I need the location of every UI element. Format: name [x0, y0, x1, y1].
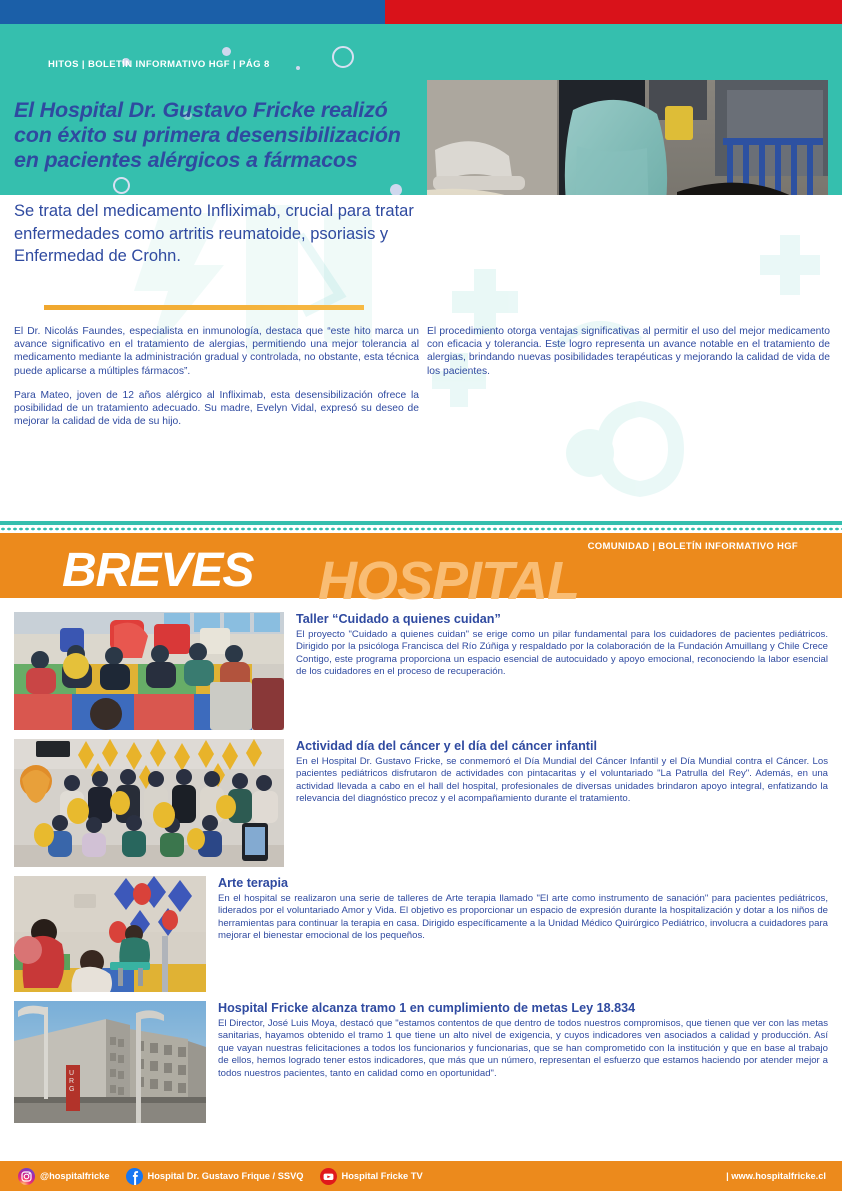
newsletter-page: HITOS | BOLETÍN INFORMATIVO HGF | PÁG 8 … — [0, 0, 842, 1191]
footer-social-instagram[interactable]: @hospitalfricke — [18, 1168, 110, 1185]
list-item: Actividad día del cáncer y el día del cá… — [0, 739, 842, 867]
news-body: El proyecto "Cuidado a quienes cuidan" s… — [296, 629, 828, 679]
instagram-handle: @hospitalfricke — [40, 1171, 110, 1181]
facebook-page-name: Hospital Dr. Gustavo Frique / SSVQ — [148, 1171, 304, 1181]
news-title: Hospital Fricke alcanza tramo 1 en cumpl… — [218, 1001, 828, 1016]
instagram-icon[interactable] — [18, 1168, 35, 1185]
news-title: Actividad día del cáncer y el día del cá… — [296, 739, 828, 754]
dot-ring — [113, 177, 130, 194]
breves-kicker: COMUNIDAD | BOLETÍN INFORMATIVO HGF — [588, 541, 798, 552]
top-color-bar — [0, 0, 842, 24]
article-paragraph: Para Mateo, joven de 12 años alérgico al… — [14, 389, 419, 429]
footer-social-youtube[interactable]: Hospital Fricke TV — [320, 1168, 423, 1185]
news-body: En el hospital se realizaron una serie d… — [218, 893, 828, 943]
article-paragraph: El Dr. Nicolás Faundes, especialista en … — [14, 325, 419, 378]
section-divider-dotted — [0, 527, 842, 531]
page-title: El Hospital Dr. Gustavo Fricke realizó c… — [14, 98, 424, 173]
news-text: Arte terapia En el hospital se realizaro… — [206, 876, 842, 943]
section-divider-solid — [0, 521, 842, 525]
footer-social-facebook[interactable]: Hospital Dr. Gustavo Frique / SSVQ — [126, 1168, 304, 1185]
article-paragraph: El procedimiento otorga ventajas signifi… — [427, 325, 830, 378]
news-title: Taller “Cuidado a quienes cuidan” — [296, 612, 828, 627]
article-lede: Se trata del medicamento Infliximab, cru… — [14, 200, 419, 268]
article-column-left: El Dr. Nicolás Faundes, especialista en … — [14, 325, 419, 439]
dot-ring — [332, 46, 354, 68]
list-item: Taller “Cuidado a quienes cuidan” El pro… — [0, 612, 842, 730]
breves-banner: COMUNIDAD | BOLETÍN INFORMATIVO HGF HOSP… — [0, 533, 842, 598]
list-item: URG Hospital Fricke alcanza tramo 1 en c… — [0, 1001, 842, 1123]
dot — [390, 184, 402, 195]
article-column-right: El procedimiento otorga ventajas signifi… — [427, 325, 830, 389]
news-text: Hospital Fricke alcanza tramo 1 en cumpl… — [206, 1001, 842, 1080]
news-thumbnail — [14, 612, 284, 730]
news-thumbnail: URG — [14, 1001, 206, 1123]
youtube-channel-name: Hospital Fricke TV — [342, 1171, 423, 1181]
article-body-region: Se trata del medicamento Infliximab, cru… — [0, 195, 842, 520]
news-body: El Director, José Luis Moya, destacó que… — [218, 1018, 828, 1080]
page-kicker: HITOS | BOLETÍN INFORMATIVO HGF | PÁG 8 — [48, 59, 270, 70]
list-item: Arte terapia En el hospital se realizaro… — [0, 876, 842, 992]
breves-ghost-word: HOSPITAL — [318, 553, 579, 609]
top-bar-blue-segment — [0, 0, 385, 24]
footer-website-url[interactable]: | www.hospitalfricke.cl — [726, 1171, 826, 1181]
youtube-icon[interactable] — [320, 1168, 337, 1185]
top-bar-red-segment — [385, 0, 842, 24]
breves-news-list: Taller “Cuidado a quienes cuidan” El pro… — [0, 612, 842, 1132]
dot — [222, 47, 231, 56]
facebook-icon[interactable] — [126, 1168, 143, 1185]
footer-bar: @hospitalfricke Hospital Dr. Gustavo Fri… — [0, 1161, 842, 1191]
news-text: Actividad día del cáncer y el día del cá… — [284, 739, 842, 806]
news-thumbnail — [14, 876, 206, 992]
news-title: Arte terapia — [218, 876, 828, 891]
news-text: Taller “Cuidado a quienes cuidan” El pro… — [284, 612, 842, 679]
dot — [296, 66, 300, 70]
news-body: En el Hospital Dr. Gustavo Fricke, se co… — [296, 756, 828, 806]
breves-main-word: BREVES — [62, 546, 253, 596]
news-thumbnail — [14, 739, 284, 867]
divider-rule — [44, 305, 364, 310]
